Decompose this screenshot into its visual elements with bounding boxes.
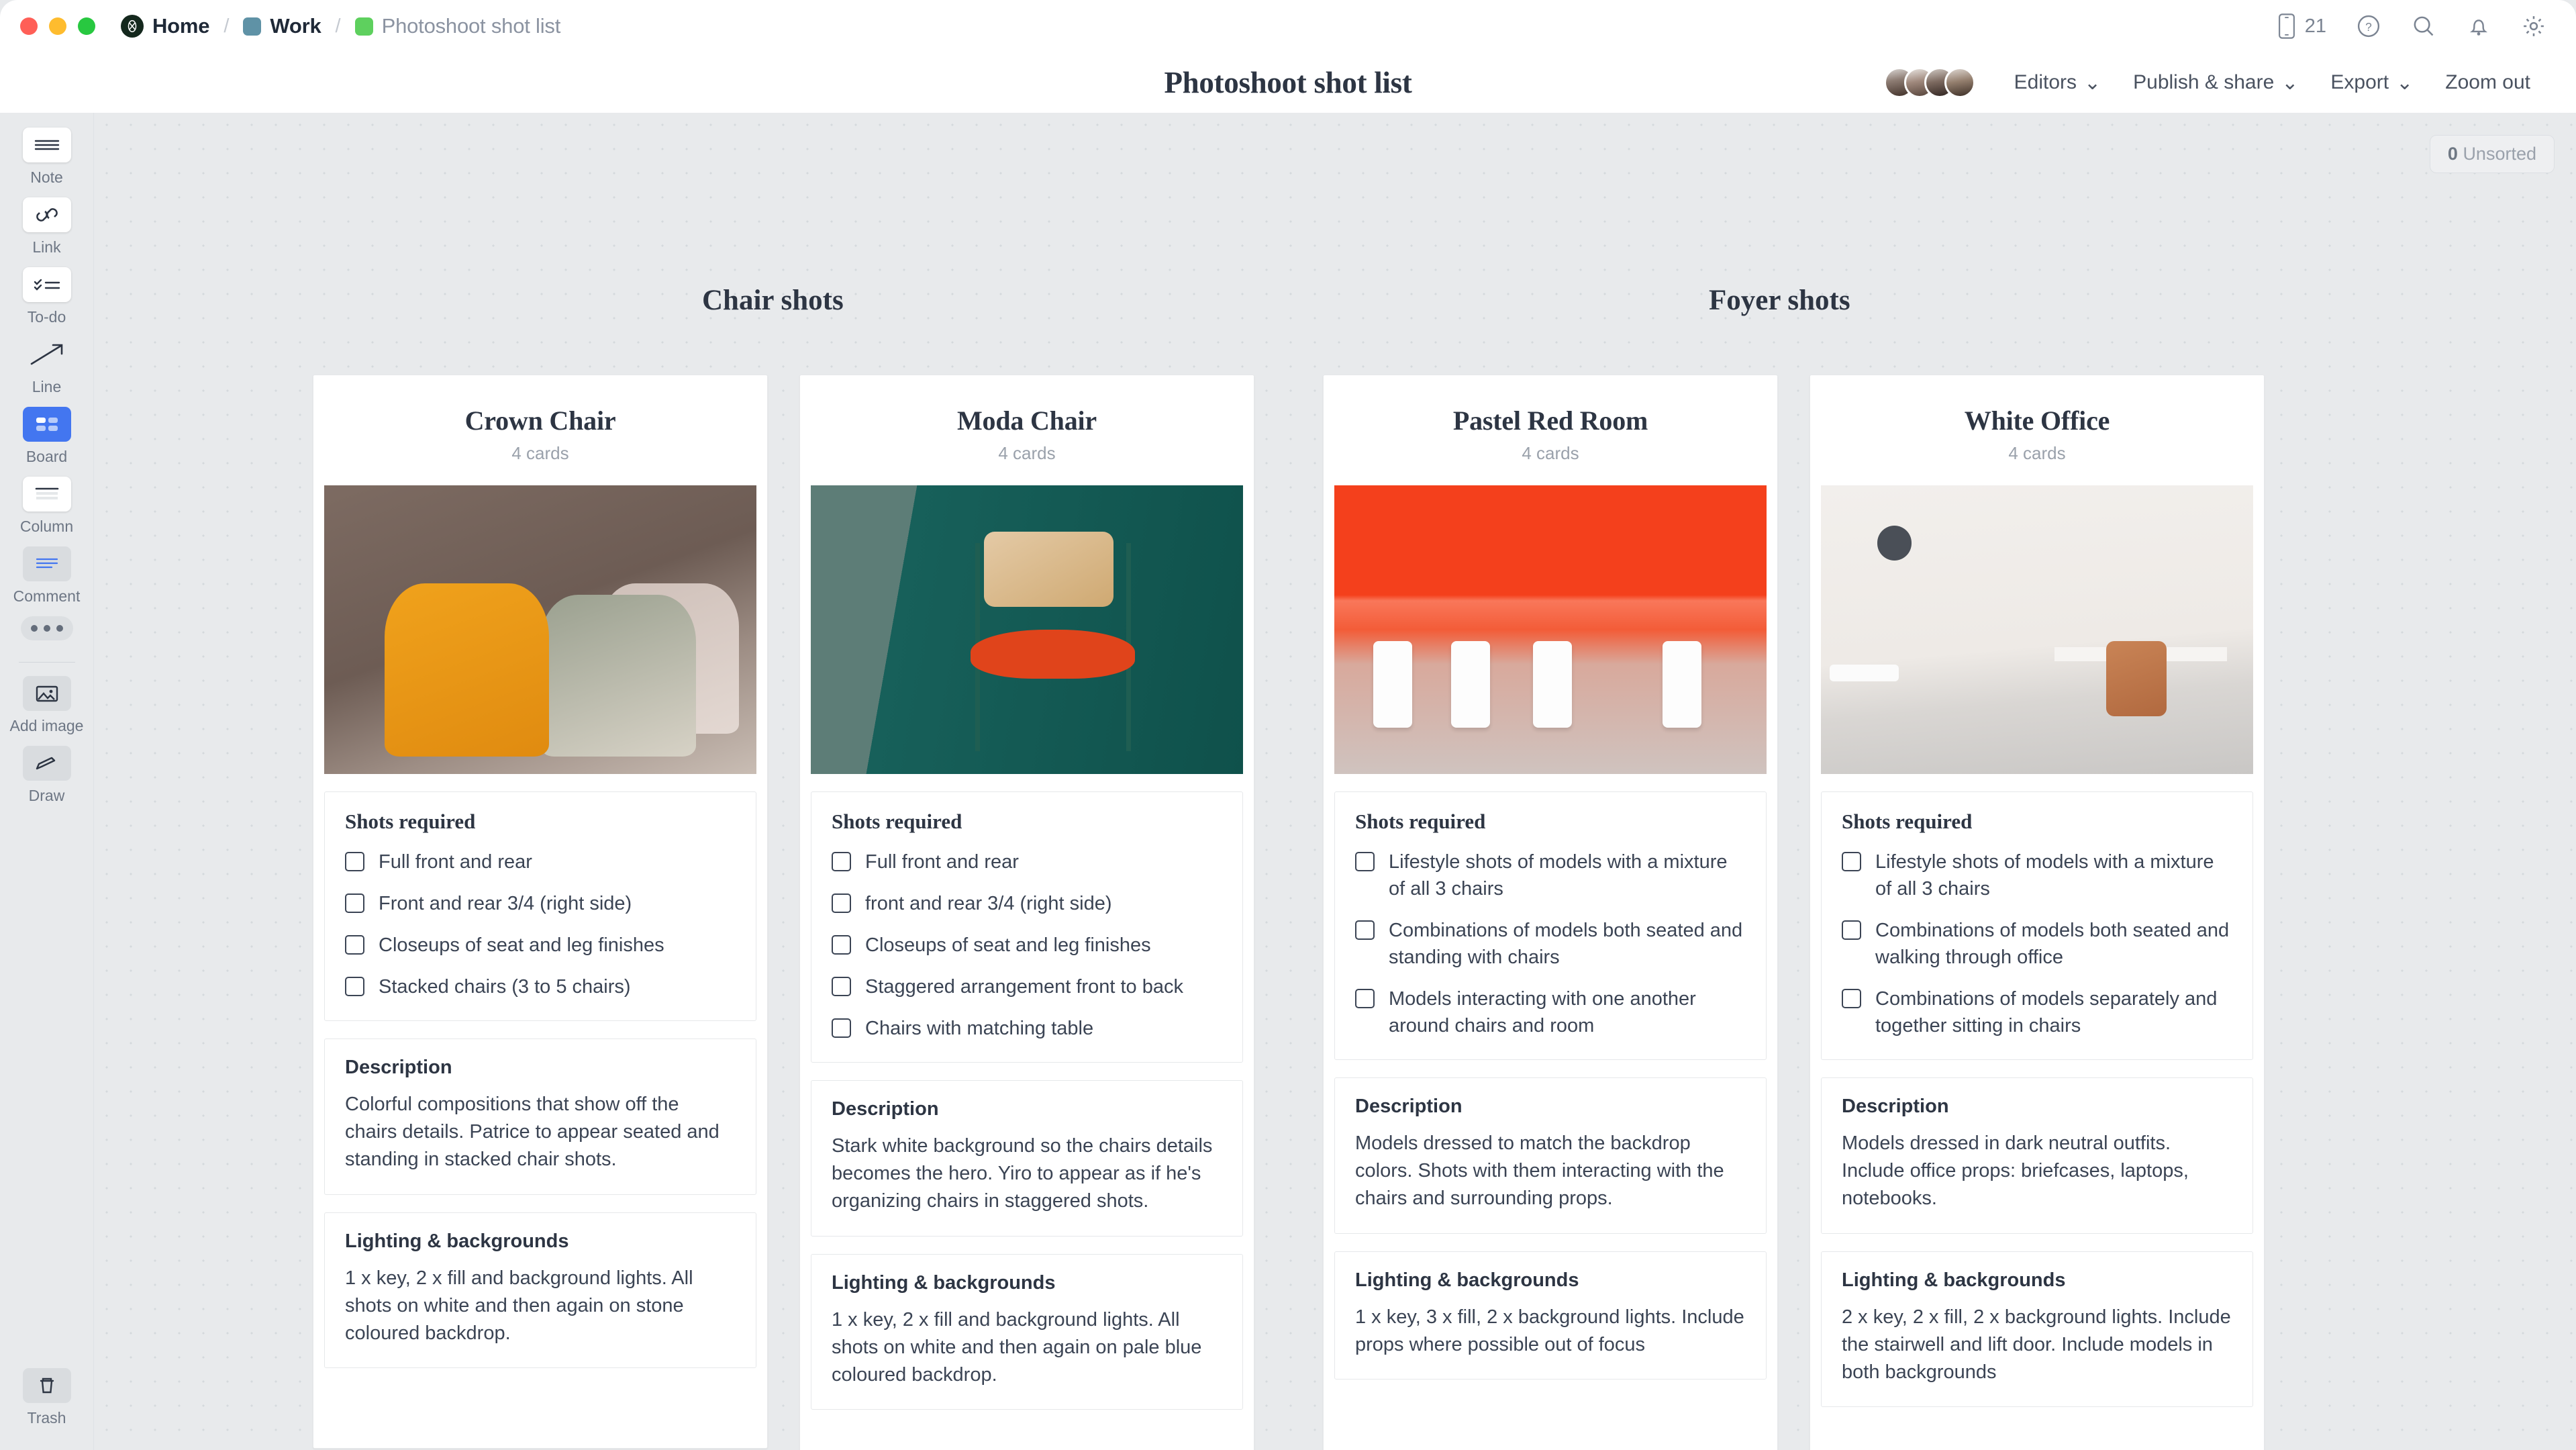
todo-label: Front and rear 3/4 (right side) (379, 890, 632, 917)
column-icon (23, 477, 71, 512)
mobile-count: 21 (2305, 15, 2326, 38)
tool-label-column: Column (20, 518, 73, 536)
column-header: Pastel Red Room 4 cards (1324, 375, 1777, 464)
description-title: Description (345, 1057, 736, 1079)
description-title: Description (1355, 1096, 1746, 1118)
column-title: Pastel Red Room (1324, 405, 1777, 436)
close-window-button[interactable] (20, 17, 38, 35)
shots-required-title: Shots required (832, 810, 1222, 834)
board-canvas[interactable]: 0 Unsorted Chair shots Foyer shots Crown… (95, 113, 2576, 1450)
tool-column[interactable]: Column (4, 477, 90, 536)
shots-required-block[interactable]: Shots required Lifestyle shots of models… (1821, 791, 2253, 1060)
shots-required-title: Shots required (1842, 810, 2232, 834)
todo-label: Combinations of models both seated and w… (1875, 917, 2232, 971)
breadcrumb-item-current[interactable]: Photoshoot shot list (352, 14, 564, 38)
left-toolbar: Note Link To-do Line Board Column (0, 113, 94, 1450)
line-arrow-icon (23, 337, 71, 372)
column-card-count: 4 cards (313, 443, 767, 464)
lighting-body: 2 x key, 2 x fill, 2 x background lights… (1842, 1304, 2232, 1387)
toolbar-divider (19, 662, 75, 663)
tool-draw[interactable]: Draw (4, 746, 90, 805)
checkbox[interactable] (832, 977, 851, 996)
checkbox[interactable] (345, 977, 364, 996)
todo-item[interactable]: Combinations of models both seated and s… (1355, 917, 1746, 971)
editors-label: Editors (2014, 71, 2077, 94)
tool-label-draw: Draw (29, 787, 65, 805)
lighting-block[interactable]: Lighting & backgrounds 1 x key, 3 x fill… (1334, 1251, 1767, 1380)
window-traffic-lights (20, 17, 95, 35)
help-icon[interactable]: ? (2356, 13, 2381, 39)
tool-note[interactable]: Note (4, 128, 90, 187)
checkbox[interactable] (1355, 920, 1375, 940)
todo-item[interactable]: front and rear 3/4 (right side) (832, 890, 1222, 917)
column-header: Moda Chair 4 cards (800, 375, 1254, 464)
titlebar-actions: 21 ? (2277, 13, 2546, 39)
checkbox[interactable] (832, 1018, 851, 1038)
column-header: White Office 4 cards (1810, 375, 2264, 464)
more-dots-icon (21, 616, 73, 640)
lighting-block[interactable]: Lighting & backgrounds 2 x key, 2 x fill… (1821, 1251, 2253, 1408)
zoom-out-label: Zoom out (2445, 71, 2530, 94)
column-card-count: 4 cards (1324, 443, 1777, 464)
mobile-icon (2277, 13, 2297, 39)
todo-label: Lifestyle shots of models with a mixture… (1389, 849, 1746, 902)
svg-text:?: ? (2365, 20, 2372, 34)
export-label: Export (2330, 71, 2389, 94)
todo-label: Models interacting with one another arou… (1389, 985, 1746, 1039)
notifications-icon[interactable] (2466, 13, 2491, 39)
column-photo-crown-chair[interactable] (324, 485, 756, 774)
lighting-block[interactable]: Lighting & backgrounds 1 x key, 2 x fill… (324, 1212, 756, 1369)
todo-label: Combinations of models separately and to… (1875, 985, 2232, 1039)
lighting-title: Lighting & backgrounds (1842, 1269, 2232, 1292)
column-card-count: 4 cards (1810, 443, 2264, 464)
editor-avatars[interactable] (1884, 67, 1975, 98)
document-actions: Editors ⌄ Publish & share ⌄ Export ⌄ Zoo… (1884, 52, 2546, 113)
publish-share-label: Publish & share (2133, 71, 2274, 94)
maximize-window-button[interactable] (78, 17, 95, 35)
todo-label: Staggered arrangement front to back (865, 973, 1183, 1000)
todo-item[interactable]: Lifestyle shots of models with a mixture… (1355, 849, 1746, 902)
board-column[interactable]: White Office 4 cards Shots required Life… (1810, 375, 2265, 1450)
lighting-body: 1 x key, 3 x fill, 2 x background lights… (1355, 1304, 1746, 1359)
column-card-count: 4 cards (800, 443, 1254, 464)
settings-gear-icon[interactable] (2521, 13, 2546, 39)
chevron-down-icon: ⌄ (2084, 71, 2101, 95)
chevron-down-icon: ⌄ (2396, 71, 2413, 95)
window-title-bar: Home / Work / Photoshoot shot list 21 ? (0, 0, 2576, 52)
column-photo-moda-chair[interactable] (811, 485, 1243, 774)
checkbox[interactable] (1842, 989, 1861, 1008)
todo-item[interactable]: Front and rear 3/4 (right side) (345, 890, 736, 917)
export-button[interactable]: Export ⌄ (2314, 71, 2429, 95)
breadcrumb-label-home: Home (152, 14, 209, 38)
breadcrumb-item-home[interactable]: Home (118, 14, 212, 38)
tool-label-link: Link (32, 238, 60, 256)
column-title: White Office (1810, 405, 2264, 436)
lighting-title: Lighting & backgrounds (1355, 1269, 1746, 1292)
todo-label: Full front and rear (865, 849, 1019, 875)
unsorted-badge[interactable]: 0 Unsorted (2430, 135, 2555, 173)
checkbox[interactable] (1355, 852, 1375, 871)
checkbox[interactable] (1842, 920, 1861, 940)
tool-label-comment: Comment (13, 587, 81, 606)
todo-item[interactable]: Lifestyle shots of models with a mixture… (1842, 849, 2232, 902)
todo-item[interactable]: Full front and rear (345, 849, 736, 875)
tool-todo[interactable]: To-do (4, 267, 90, 326)
checkbox[interactable] (345, 893, 364, 913)
todo-item[interactable]: Staggered arrangement front to back (832, 973, 1222, 1000)
shots-required-title: Shots required (345, 810, 736, 834)
todo-label: Chairs with matching table (865, 1015, 1093, 1042)
tool-more[interactable] (4, 616, 90, 640)
tool-label-todo: To-do (28, 308, 66, 326)
description-block[interactable]: Description Models dressed to match the … (1334, 1077, 1767, 1234)
lighting-body: 1 x key, 2 x fill and background lights.… (345, 1265, 736, 1348)
checkbox[interactable] (832, 893, 851, 913)
publish-share-button[interactable]: Publish & share ⌄ (2117, 71, 2314, 95)
minimize-window-button[interactable] (49, 17, 66, 35)
checkbox[interactable] (345, 935, 364, 955)
todo-label: Lifestyle shots of models with a mixture… (1875, 849, 2232, 902)
trash-icon (23, 1368, 71, 1403)
lighting-title: Lighting & backgrounds (345, 1230, 736, 1253)
board-column[interactable]: Moda Chair 4 cards Shots required Full f… (799, 375, 1254, 1450)
tool-label-note: Note (30, 168, 63, 187)
description-body: Colorful compositions that show off the … (345, 1091, 736, 1174)
description-title: Description (1842, 1096, 2232, 1118)
todo-item[interactable]: Stacked chairs (3 to 5 chairs) (345, 973, 736, 1000)
checkbox[interactable] (832, 935, 851, 955)
breadcrumb-label-work: Work (270, 14, 321, 38)
work-folder-swatch (243, 17, 261, 36)
chevron-down-icon: ⌄ (2281, 71, 2298, 95)
avatar (1944, 67, 1975, 98)
todo-label: Closeups of seat and leg finishes (379, 932, 664, 959)
todo-item[interactable]: Closeups of seat and leg finishes (345, 932, 736, 959)
shots-required-title: Shots required (1355, 810, 1746, 834)
section-title-chair-shots: Chair shots (702, 284, 844, 317)
lighting-title: Lighting & backgrounds (832, 1272, 1222, 1294)
milanote-logo-icon (121, 15, 144, 38)
todo-item[interactable]: Combinations of models separately and to… (1842, 985, 2232, 1039)
search-icon[interactable] (2411, 13, 2436, 39)
tool-link[interactable]: Link (4, 197, 90, 256)
page-title: Photoshoot shot list (1164, 65, 1411, 100)
unsorted-label: Unsorted (2463, 144, 2536, 164)
document-header: Photoshoot shot list Editors ⌄ Publish &… (0, 52, 2576, 113)
tool-board[interactable]: Board (4, 407, 90, 466)
description-body: Stark white background so the chairs det… (832, 1132, 1222, 1216)
board-icon (23, 407, 71, 442)
column-photo-white-office[interactable] (1821, 485, 2253, 774)
section-title-foyer-shots: Foyer shots (1709, 284, 1850, 317)
board-swatch (355, 17, 373, 36)
breadcrumb-separator-1: / (224, 15, 229, 38)
breadcrumb-separator-2: / (336, 15, 341, 38)
description-body: Models dressed to match the backdrop col… (1355, 1130, 1746, 1213)
todo-item[interactable]: Combinations of models both seated and w… (1842, 917, 2232, 971)
checkbox[interactable] (1355, 989, 1375, 1008)
breadcrumb-item-work[interactable]: Work (240, 14, 324, 38)
tool-comment[interactable]: Comment (4, 546, 90, 606)
tool-add-image[interactable]: Add image (4, 676, 90, 735)
description-title: Description (832, 1098, 1222, 1120)
link-icon (23, 197, 71, 232)
comment-icon (23, 546, 71, 581)
shots-required-block[interactable]: Shots required Full front and rear front… (811, 791, 1243, 1063)
todo-item[interactable]: Closeups of seat and leg finishes (832, 932, 1222, 959)
note-icon (23, 128, 71, 162)
tool-line[interactable]: Line (4, 337, 90, 396)
todo-label: front and rear 3/4 (right side) (865, 890, 1112, 917)
todo-icon (23, 267, 71, 302)
todo-label: Closeups of seat and leg finishes (865, 932, 1151, 959)
checkbox[interactable] (345, 852, 364, 871)
shots-required-block[interactable]: Shots required Full front and rear Front… (324, 791, 756, 1021)
todo-item[interactable]: Models interacting with one another arou… (1355, 985, 1746, 1039)
trash-button[interactable]: Trash (23, 1368, 71, 1427)
tool-label-add-image: Add image (10, 717, 84, 735)
todo-item[interactable]: Full front and rear (832, 849, 1222, 875)
mobile-icon-group[interactable]: 21 (2277, 13, 2326, 39)
checkbox[interactable] (1842, 852, 1861, 871)
board-column[interactable]: Pastel Red Room 4 cards Shots required L… (1323, 375, 1778, 1450)
lighting-body: 1 x key, 2 x fill and background lights.… (832, 1306, 1222, 1390)
lighting-block[interactable]: Lighting & backgrounds 1 x key, 2 x fill… (811, 1254, 1243, 1410)
breadcrumb: Home / Work / Photoshoot shot list (118, 14, 563, 38)
zoom-out-button[interactable]: Zoom out (2429, 71, 2546, 94)
shots-required-block[interactable]: Shots required Lifestyle shots of models… (1334, 791, 1767, 1060)
unsorted-count: 0 (2448, 144, 2458, 164)
description-block[interactable]: Description Stark white background so th… (811, 1080, 1243, 1237)
tool-label-trash: Trash (28, 1409, 66, 1427)
board-column[interactable]: Crown Chair 4 cards Shots required Full … (313, 375, 768, 1449)
todo-label: Stacked chairs (3 to 5 chairs) (379, 973, 631, 1000)
tool-label-board: Board (26, 448, 67, 466)
column-header: Crown Chair 4 cards (313, 375, 767, 464)
breadcrumb-label-current: Photoshoot shot list (382, 14, 561, 38)
tool-label-line: Line (32, 378, 61, 396)
pencil-draw-icon (23, 746, 71, 781)
todo-label: Full front and rear (379, 849, 532, 875)
todo-label: Combinations of models both seated and s… (1389, 917, 1746, 971)
column-title: Moda Chair (800, 405, 1254, 436)
checkbox[interactable] (832, 852, 851, 871)
column-title: Crown Chair (313, 405, 767, 436)
description-block[interactable]: Description Models dressed in dark neutr… (1821, 1077, 2253, 1234)
column-photo-pastel-red-room[interactable] (1334, 485, 1767, 774)
description-block[interactable]: Description Colorful compositions that s… (324, 1038, 756, 1195)
editors-button[interactable]: Editors ⌄ (1998, 71, 2118, 95)
todo-item[interactable]: Chairs with matching table (832, 1015, 1222, 1042)
description-body: Models dressed in dark neutral outfits. … (1842, 1130, 2232, 1213)
add-image-icon (23, 676, 71, 711)
